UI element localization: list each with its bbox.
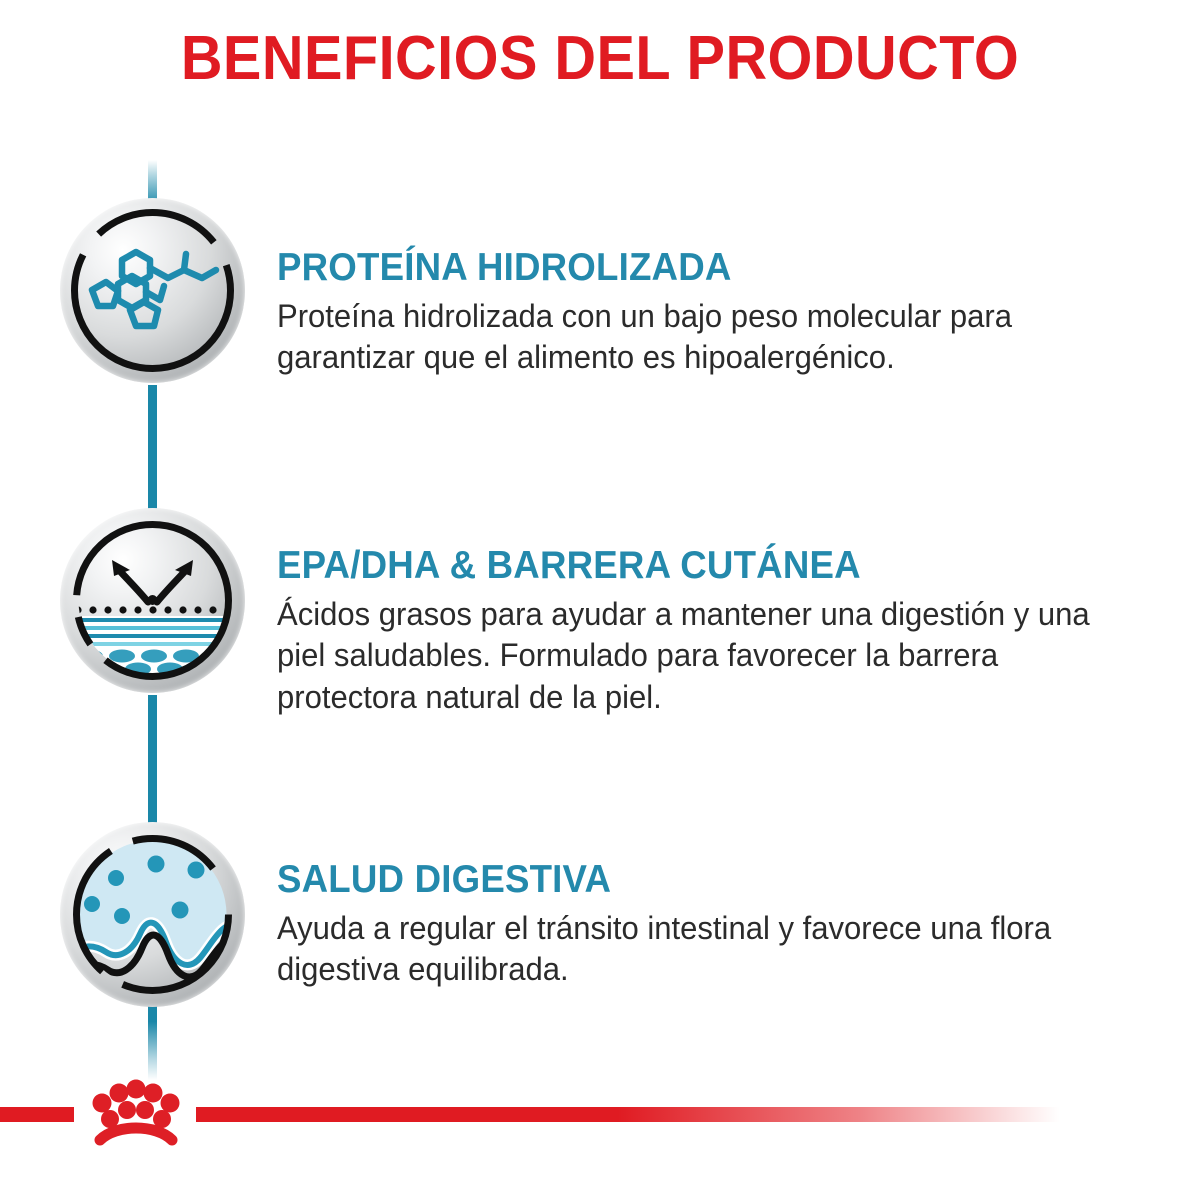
footer-rule-right bbox=[196, 1107, 1200, 1122]
benefit-body: Proteína hidrolizada con un bajo peso mo… bbox=[277, 296, 1117, 379]
benefit-body: Ayuda a regular el tránsito intestinal y… bbox=[277, 908, 1117, 991]
skin-barrier-icon bbox=[60, 508, 245, 693]
benefit-heading: EPA/DHA & BARRERA CUTÁNEA bbox=[277, 544, 1104, 588]
benefit-icon-wrapper bbox=[60, 198, 245, 383]
benefit-text-block: EPA/DHA & BARRERA CUTÁNEA Ácidos grasos … bbox=[277, 508, 1157, 718]
hydrolysed-protein-molecule-icon bbox=[60, 198, 245, 383]
digestive-health-icon bbox=[60, 822, 245, 1007]
benefit-body: Ácidos grasos para ayudar a mantener una… bbox=[277, 594, 1117, 718]
benefit-item-skin-barrier: EPA/DHA & BARRERA CUTÁNEA Ácidos grasos … bbox=[0, 508, 1200, 718]
benefit-heading: SALUD DIGESTIVA bbox=[277, 858, 1104, 902]
page-title: BENEFICIOS DEL PRODUCTO bbox=[42, 26, 1158, 91]
royal-canin-crown-icon bbox=[76, 1068, 196, 1158]
benefit-item-protein: PROTEÍNA HIDROLIZADA Proteína hidrolizad… bbox=[0, 198, 1200, 383]
benefit-item-digestive: SALUD DIGESTIVA Ayuda a regular el tráns… bbox=[0, 822, 1200, 1007]
footer bbox=[0, 1068, 1200, 1200]
footer-rule-left bbox=[0, 1107, 74, 1122]
benefit-icon-wrapper bbox=[60, 822, 245, 1007]
connector-line-1 bbox=[148, 385, 157, 515]
benefit-heading: PROTEÍNA HIDROLIZADA bbox=[277, 246, 1104, 290]
benefits-list: PROTEÍNA HIDROLIZADA Proteína hidrolizad… bbox=[0, 150, 1200, 1070]
benefit-text-block: PROTEÍNA HIDROLIZADA Proteína hidrolizad… bbox=[277, 198, 1157, 379]
benefit-text-block: SALUD DIGESTIVA Ayuda a regular el tráns… bbox=[277, 822, 1157, 991]
benefit-icon-wrapper bbox=[60, 508, 245, 693]
